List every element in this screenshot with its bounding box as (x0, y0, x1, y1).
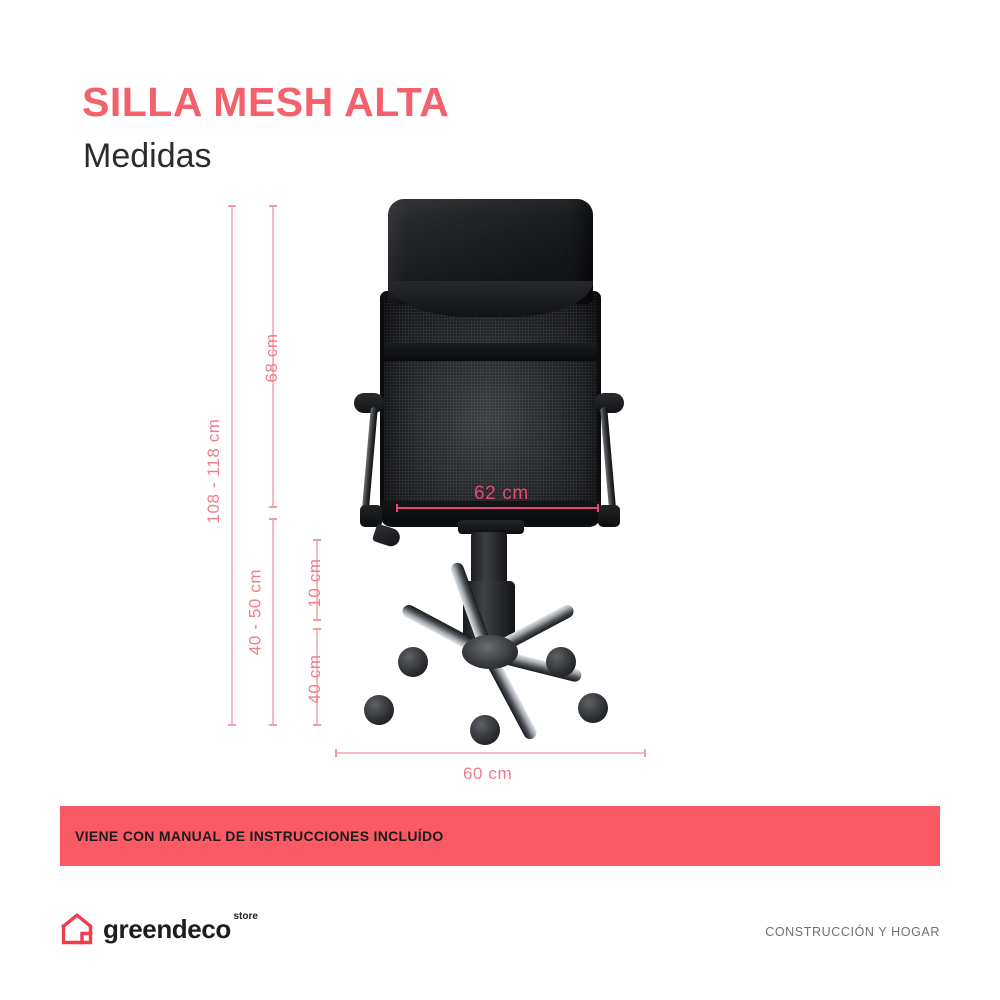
dimension-line-base-width (335, 752, 646, 754)
caster-wheel (398, 647, 428, 677)
base-hub (462, 635, 518, 669)
backrest-strap (384, 343, 597, 361)
dimension-line-total-height (231, 205, 233, 726)
caster-wheel (470, 715, 500, 745)
info-banner: VIENE CON MANUAL DE INSTRUCCIONES INCLUÍ… (60, 806, 940, 866)
page-title: SILLA MESH ALTA (82, 82, 449, 123)
dimension-label-total-height: 108 - 118 cm (204, 406, 224, 536)
product-image-chair (340, 195, 640, 740)
brand-logo[interactable]: greendeco store (60, 906, 231, 952)
armrest-pad (354, 393, 384, 413)
armrest-post (361, 407, 378, 519)
caster-wheel (364, 695, 394, 725)
dimension-label-seat-travel: 10 cm (305, 533, 325, 633)
brand-name-superscript: store (233, 912, 257, 922)
armrest-foot (598, 505, 620, 527)
height-adjust-lever (372, 523, 402, 548)
armrest-post (600, 407, 617, 519)
dimension-label-base-width: 60 cm (463, 764, 512, 784)
page-subtitle: Medidas (83, 139, 212, 173)
info-banner-text: VIENE CON MANUAL DE INSTRUCCIONES INCLUÍ… (75, 828, 444, 844)
armrest-pad (594, 393, 624, 413)
dimension-label-backrest-height: 68 cm (262, 308, 282, 408)
dimension-line-seat-height (272, 518, 274, 726)
dimension-label-backrest-width: 62 cm (474, 483, 529, 505)
dimension-label-seat-height: 40 - 50 cm (246, 555, 266, 670)
armrest-left (354, 393, 384, 525)
dimension-label-base-height: 40 cm (305, 629, 325, 729)
brand-name: greendeco store (103, 916, 231, 942)
greendeco-house-g-icon (60, 912, 94, 946)
brand-name-text: greendeco (103, 914, 231, 944)
dimension-line-backrest-width (396, 507, 599, 509)
footer-tagline: CONSTRUCCIÓN Y HOGAR (765, 925, 940, 939)
caster-wheel (546, 647, 576, 677)
caster-wheel (578, 693, 608, 723)
gas-cylinder-upper (471, 532, 507, 584)
